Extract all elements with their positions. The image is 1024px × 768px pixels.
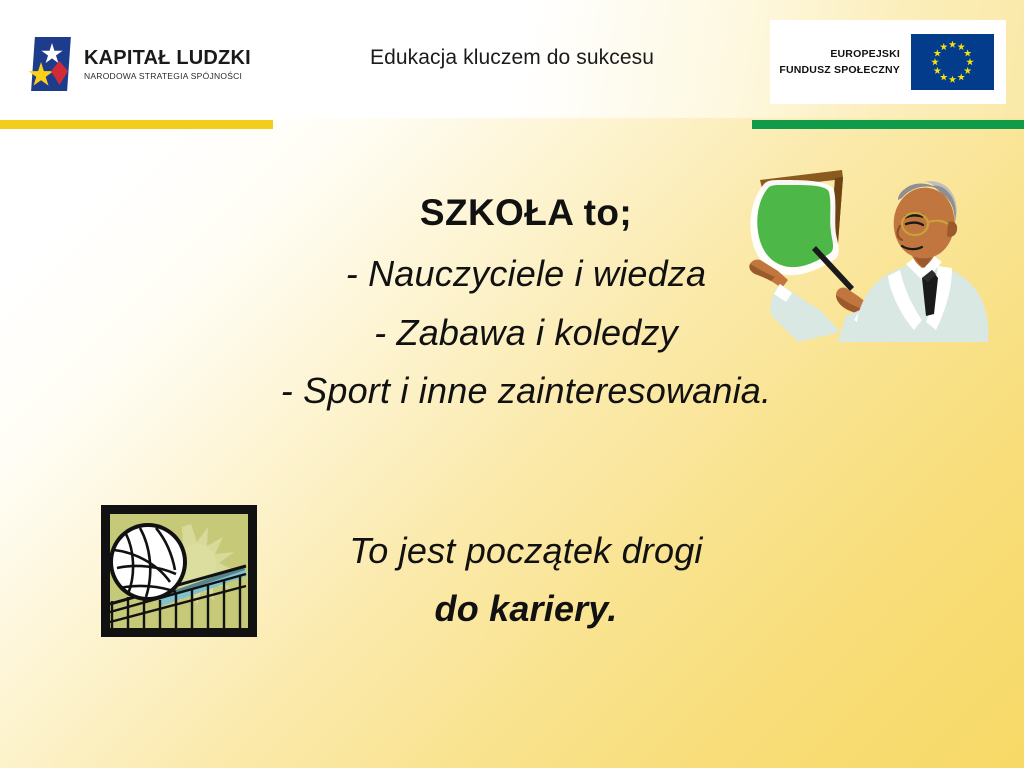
eu-star-icon [949,76,957,84]
european-union-flag-icon [911,34,994,90]
eu-star-icon [949,41,957,49]
eu-star-icon [931,58,939,66]
volleyball-and-net-icon [96,500,262,642]
eu-star-icon [957,73,965,81]
eu-star-icon [964,67,972,75]
eu-star-icon [940,73,948,81]
kapital-ludzki-subtitle: NARODOWA STRATEGIA SPÓJNOŚCI [84,72,251,81]
efs-line-1: EUROPEJSKI [779,46,900,62]
main-bullet-3: - Sport i inne zainteresowania. [52,362,1000,420]
efs-line-2: FUNDUSZ SPOŁECZNY [779,62,900,78]
eu-star-icon [957,43,965,51]
eu-star-icon [940,43,948,51]
eu-star-icon [933,49,941,57]
efs-wordmark: EUROPEJSKI FUNDUSZ SPOŁECZNY [779,46,900,79]
eu-star-icon [966,58,974,66]
divider-bar-left [0,120,273,129]
eu-star-icon [964,49,972,57]
eu-star-icon [933,67,941,75]
divider-bar-right [752,120,1024,129]
teacher-at-chalkboard-icon [742,164,994,342]
slide-canvas: KAPITAŁ LUDZKI NARODOWA STRATEGIA SPÓJNO… [0,0,1024,768]
european-social-fund-logo: EUROPEJSKI FUNDUSZ SPOŁECZNY [770,20,1006,104]
